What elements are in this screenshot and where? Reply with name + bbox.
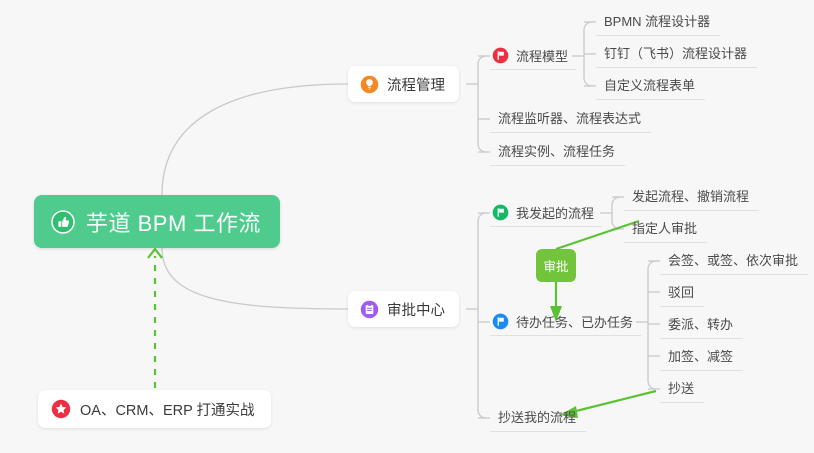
mindmap-canvas: 芋道 BPM 工作流 流程管理 流程模型 BPMN 流程设计器 钉钉（飞书）流程… bbox=[0, 0, 814, 453]
leaf-node-multi-sign[interactable]: 会签、或签、依次审批 bbox=[660, 247, 808, 275]
branch-node-approval-center[interactable]: 审批中心 bbox=[348, 291, 459, 327]
bracket-todo-tasks bbox=[648, 261, 656, 389]
leaf-node-assigned-approval[interactable]: 指定人审批 bbox=[624, 215, 707, 243]
branch-node-process-management[interactable]: 流程管理 bbox=[348, 66, 459, 102]
note-node-integration[interactable]: OA、CRM、ERP 打通实战 bbox=[38, 390, 271, 428]
note-arrow-head bbox=[148, 249, 162, 258]
clipboard-icon bbox=[360, 300, 379, 319]
branch-label-process-management: 流程管理 bbox=[387, 74, 445, 95]
leaf-node-cc-my-processes[interactable]: 抄送我的流程 bbox=[490, 404, 586, 432]
flag-icon bbox=[492, 47, 509, 64]
leaf-node-carbon-copy[interactable]: 抄送 bbox=[660, 375, 704, 403]
sub-label-my-started-processes: 我发起的流程 bbox=[516, 203, 594, 222]
leaf-node-process-instance[interactable]: 流程实例、流程任务 bbox=[490, 138, 625, 166]
flag-icon bbox=[492, 313, 509, 330]
link-root-to-process-management bbox=[162, 84, 348, 195]
lightbulb-icon bbox=[360, 75, 379, 94]
link-root-to-approval-center bbox=[162, 248, 348, 309]
branch-label-approval-center: 审批中心 bbox=[387, 299, 445, 320]
sub-label-todo-done-tasks: 待办任务、已办任务 bbox=[516, 312, 633, 331]
sub-node-todo-done-tasks[interactable]: 待办任务、已办任务 bbox=[490, 308, 641, 336]
bracket-process-model bbox=[584, 22, 592, 86]
callout-chip-label: 审批 bbox=[543, 256, 568, 275]
leaf-node-process-listener[interactable]: 流程监听器、流程表达式 bbox=[490, 105, 651, 133]
leaf-node-start-cancel-process[interactable]: 发起流程、撤销流程 bbox=[624, 183, 759, 211]
leaf-node-delegate-transfer[interactable]: 委派、转办 bbox=[660, 311, 743, 339]
bracket-process-management bbox=[478, 56, 486, 152]
bracket-my-started bbox=[612, 197, 620, 229]
flag-icon bbox=[492, 204, 509, 221]
sub-label-process-model: 流程模型 bbox=[516, 46, 568, 65]
sub-node-my-started-processes[interactable]: 我发起的流程 bbox=[490, 199, 602, 227]
note-label-integration: OA、CRM、ERP 打通实战 bbox=[80, 399, 255, 420]
callout-chip-approval[interactable]: 审批 bbox=[536, 249, 576, 282]
leaf-node-reject[interactable]: 驳回 bbox=[660, 279, 704, 307]
root-label: 芋道 BPM 工作流 bbox=[86, 206, 261, 238]
star-icon bbox=[51, 399, 71, 419]
leaf-node-bpmn-designer[interactable]: BPMN 流程设计器 bbox=[596, 8, 720, 36]
thumbs-up-icon bbox=[50, 209, 76, 235]
root-node[interactable]: 芋道 BPM 工作流 bbox=[34, 195, 280, 248]
sub-node-process-model[interactable]: 流程模型 bbox=[490, 42, 576, 70]
leaf-node-custom-form[interactable]: 自定义流程表单 bbox=[596, 72, 705, 100]
leaf-node-dingtalk-designer[interactable]: 钉钉（飞书）流程设计器 bbox=[596, 40, 757, 68]
bracket-approval-center bbox=[478, 213, 486, 418]
leaf-node-add-remove-sign[interactable]: 加签、减签 bbox=[660, 343, 743, 371]
